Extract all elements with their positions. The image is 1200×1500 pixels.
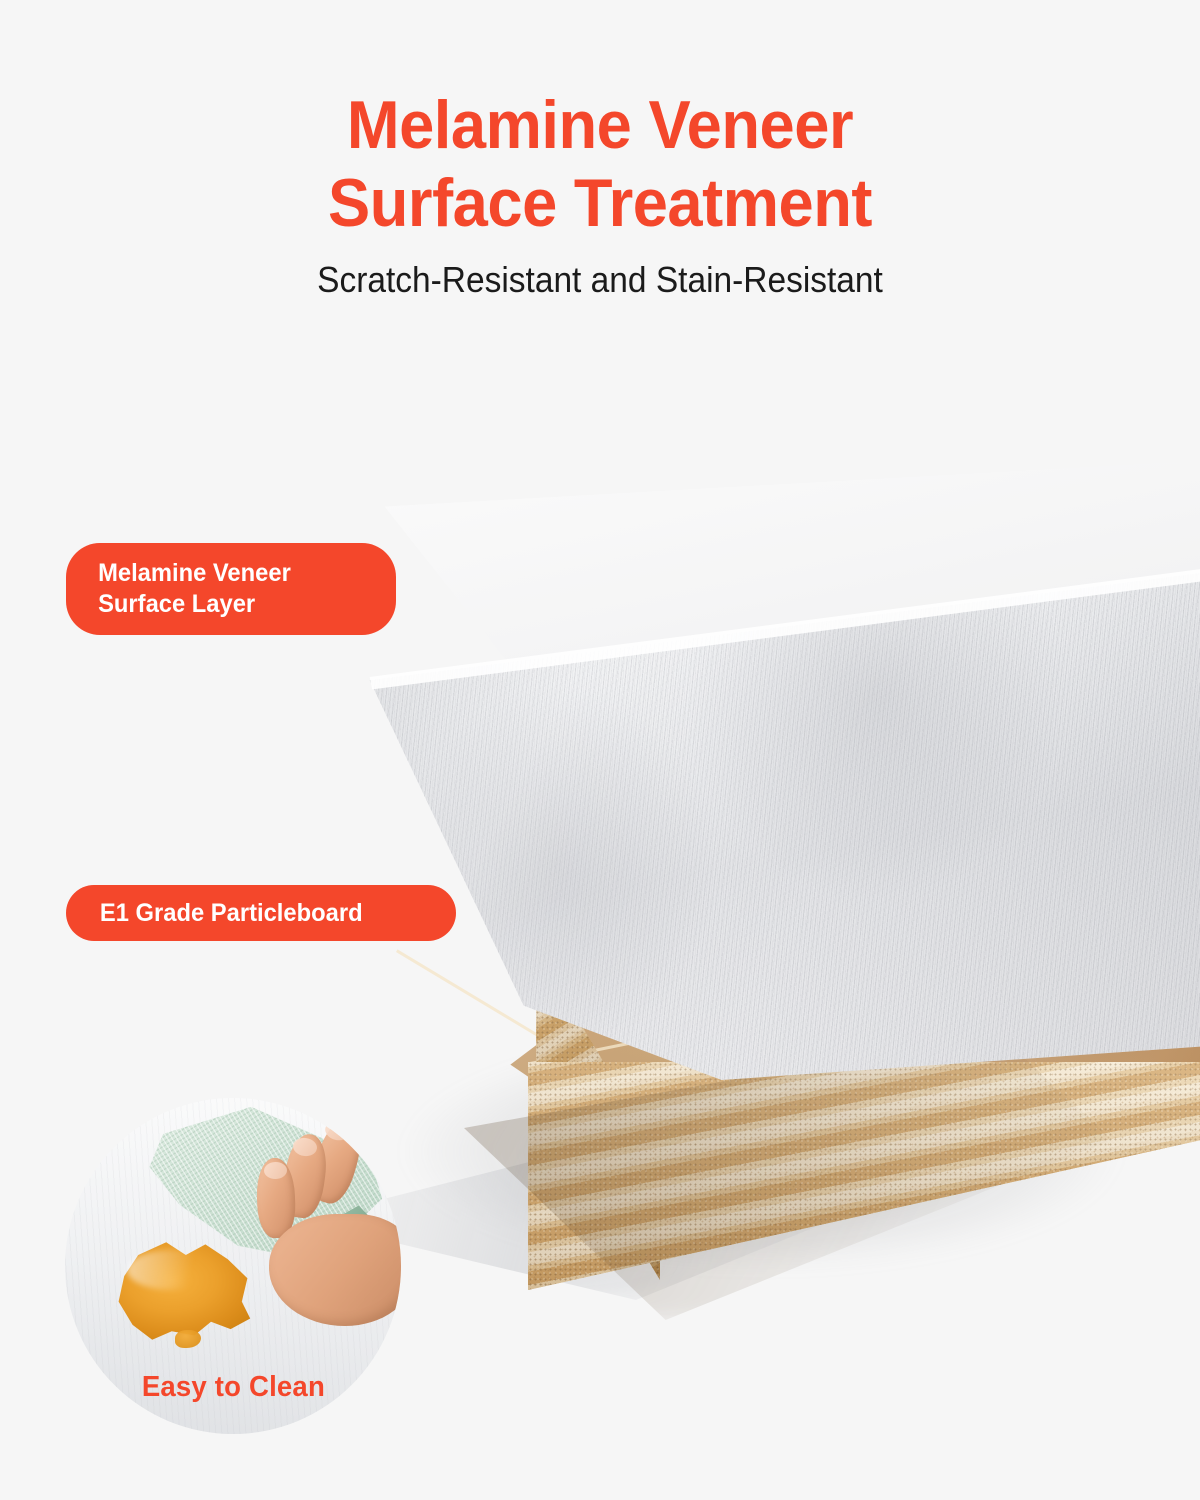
easy-to-clean-caption-text: Easy to Clean [141,1371,324,1404]
liquid-spill-highlight [127,1250,217,1290]
callout-melamine-veneer-layer-label: Melamine Veneer Surface Layer [98,558,291,620]
callout-melamine-veneer-layer: Melamine Veneer Surface Layer [66,543,396,635]
callout-e1-grade-particleboard: E1 Grade Particleboard [66,885,456,941]
header: Melamine Veneer Surface Treatment Scratc… [0,0,1200,302]
easy-to-clean-caption: Easy to Clean [65,1371,401,1404]
easy-to-clean-inset: Easy to Clean [65,1098,401,1434]
hand-wiping [243,1118,401,1314]
callout-e1-grade-particleboard-label: E1 Grade Particleboard [100,898,363,928]
melamine-veneer-sheet [330,460,1200,1080]
page-subtitle: Scratch-Resistant and Stain-Resistant [42,242,1158,302]
infographic-canvas: Melamine Veneer Surface Treatment Scratc… [0,0,1200,1500]
palm [269,1214,401,1326]
page-title: Melamine Veneer Surface Treatment [42,0,1158,242]
